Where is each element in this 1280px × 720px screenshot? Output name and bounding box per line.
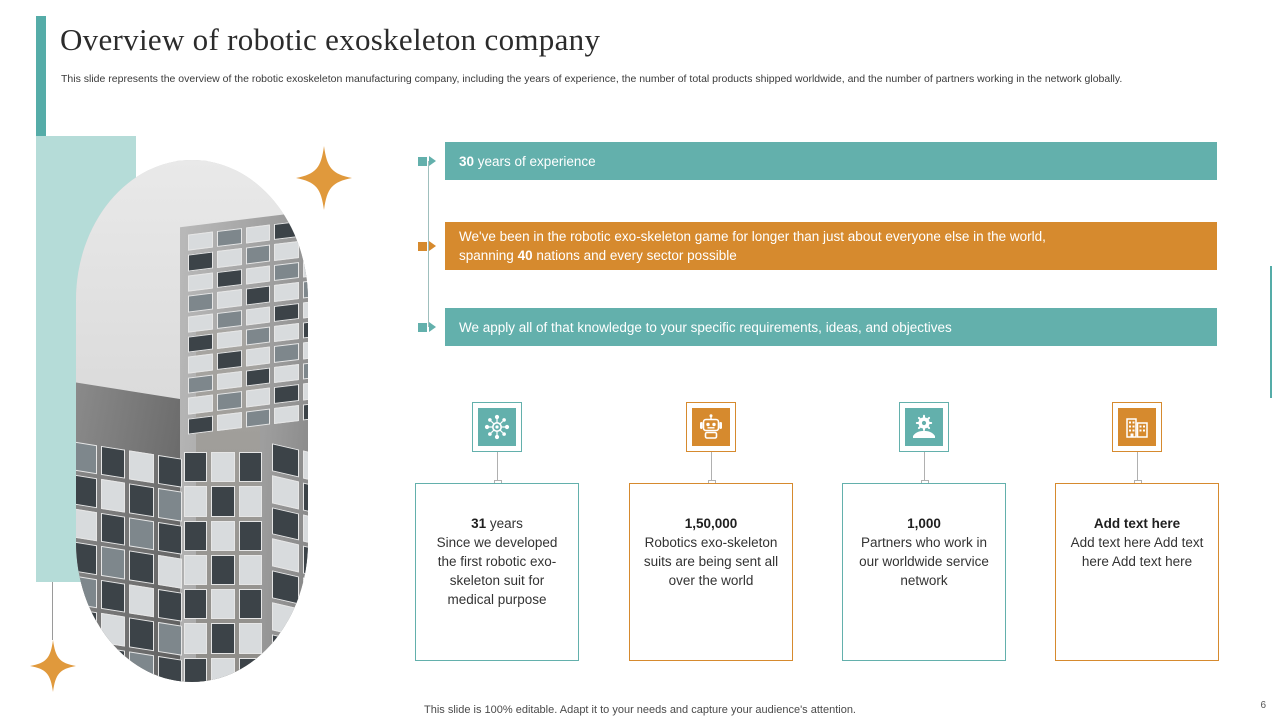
arrow-right-icon-1 (418, 154, 440, 168)
sparkle-icon-top (296, 146, 352, 210)
kpi-2-body: Robotics exo-skeleton suits are being se… (642, 533, 780, 590)
kpi-card-placeholder: Add text here Add text here Add text her… (1055, 483, 1219, 661)
photo-window-grid-right (272, 443, 308, 682)
left-accent-bar (36, 16, 46, 136)
arrow-right-icon-2 (418, 239, 440, 253)
connector-stem-4 (1137, 452, 1138, 483)
kpi-1-body: Since we developed the first robotic exo… (428, 533, 566, 609)
network-gear-icon (478, 408, 516, 446)
banner-2-line2-a: spanning (459, 248, 518, 263)
connector-stem-2 (711, 452, 712, 483)
page-subtitle: This slide represents the overview of th… (61, 72, 1191, 87)
hand-gear-icon-box (899, 402, 949, 452)
kpi-3-body: Partners who work in our worldwide servi… (855, 533, 993, 590)
connector-stem-1 (497, 452, 498, 483)
arrow-right-icon-3 (418, 320, 440, 334)
banner-1-bold: 30 (459, 154, 474, 169)
connector-stem-3 (924, 452, 925, 483)
page-number: 6 (1260, 700, 1266, 711)
banner-experience: 30 years of experience (445, 142, 1217, 180)
kpi-card-partners: 1,000 Partners who work in our worldwide… (842, 483, 1006, 661)
banner-2-line1: We've been in the robotic exo-skeleton g… (459, 227, 1046, 246)
banner-2-line2-b: nations and every sector possible (533, 248, 737, 263)
banner-global-reach: We've been in the robotic exo-skeleton g… (445, 222, 1217, 270)
building-photo (76, 160, 308, 682)
footer-note: This slide is 100% editable. Adapt it to… (0, 704, 1280, 716)
network-gear-icon-box (472, 402, 522, 452)
kpi-card-years: 31 years Since we developed the first ro… (415, 483, 579, 661)
right-accent-bar (1270, 266, 1272, 398)
kpi-1-number: 31 (471, 516, 486, 531)
building-icon (1118, 408, 1156, 446)
banner-1-text: years of experience (474, 154, 596, 169)
sparkle-icon-bottom (30, 640, 76, 692)
banner-2-bold: 40 (518, 248, 533, 263)
kpi-2-number: 1,50,000 (685, 516, 738, 531)
photo-window-grid-front (184, 452, 262, 682)
hand-gear-icon (905, 408, 943, 446)
banner-knowledge: We apply all of that knowledge to your s… (445, 308, 1217, 346)
kpi-4-body: Add text here Add text here Add text her… (1068, 533, 1206, 571)
kpi-card-suits: 1,50,000 Robotics exo-skeleton suits are… (629, 483, 793, 661)
kpi-1-unit: years (486, 516, 523, 531)
robot-icon (692, 408, 730, 446)
page-title: Overview of robotic exoskeleton company (60, 22, 600, 58)
kpi-4-number: Add text here (1094, 516, 1180, 531)
building-icon-box (1112, 402, 1162, 452)
kpi-3-number: 1,000 (907, 516, 941, 531)
banner-3-text: We apply all of that knowledge to your s… (459, 320, 952, 335)
robot-icon-box (686, 402, 736, 452)
left-vertical-line (52, 582, 53, 640)
photo-window-grid-upper (188, 217, 308, 434)
photo-window-grid-left (76, 441, 182, 682)
